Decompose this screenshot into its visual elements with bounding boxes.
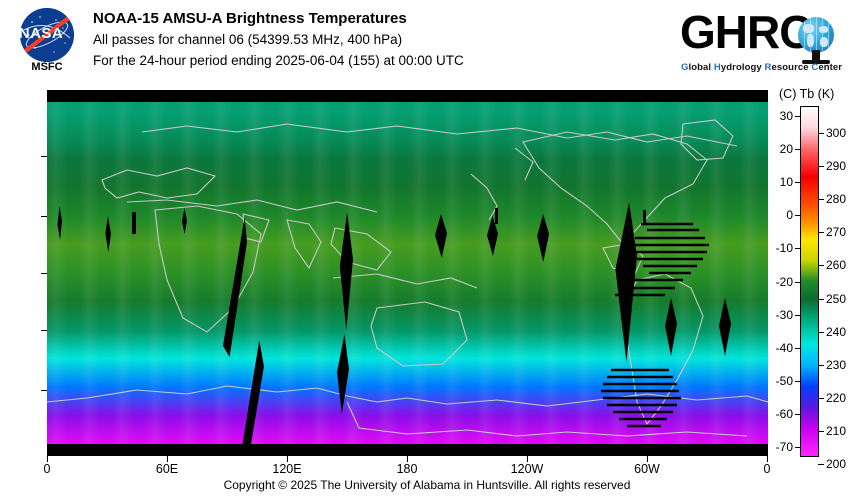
brightness-temperature-map [47,102,768,444]
colorbar-tick-kelvin [818,166,824,167]
colorbar-tick-kelvin [818,398,824,399]
x-axis-label: 120E [262,462,312,476]
colorbar-tick-celsius [795,215,801,216]
y-tick [41,156,47,157]
colorbar-label-kelvin: 300 [826,126,846,140]
ghrc-wordmark: GHRC [680,6,811,58]
ghrc-tagline: Global Hydrology Resource Center [681,62,842,73]
colorbar-tick-kelvin [818,265,824,266]
subtitle-channel: All passes for channel 06 (54399.53 MHz,… [93,29,464,50]
colorbar-label-celsius: 30 [780,109,793,123]
map-plot: 60N 30N EQ 30S 60S 0 60E 120E 180 120W 6… [47,90,768,456]
copyright-notice: Copyright © 2025 The University of Alaba… [0,478,854,492]
colorbar-header: (C) Tb (K) [779,87,834,101]
colorbar-tick-kelvin [818,365,824,366]
colorbar-tick-celsius [795,414,801,415]
nasa-logo: NASA MSFC [14,6,80,72]
x-axis-label: 0 [22,462,72,476]
globe-icon [798,17,834,53]
colorbar-tick-celsius [795,315,801,316]
colorbar-label-celsius: -60 [776,407,793,421]
colorbar-label-celsius: 20 [780,142,793,156]
colorbar-tick-celsius [795,248,801,249]
colorbar-tick-celsius [795,282,801,283]
colorbar-label-celsius: 0 [786,208,793,222]
y-tick [41,330,47,331]
colorbar-tick-celsius [795,149,801,150]
x-axis-label: 60E [142,462,192,476]
nasa-wordmark: NASA [14,6,68,60]
colorbar-tick-kelvin [818,133,824,134]
y-tick [41,390,47,391]
colorbar-label-kelvin: 210 [826,424,846,438]
nasa-center-label: MSFC [14,61,80,73]
colorbar-tick-kelvin [818,464,824,465]
colorbar-tick-kelvin [818,199,824,200]
colorbar-label-kelvin: 270 [826,225,846,239]
x-axis-label: 60W [622,462,672,476]
colorbar-tick-kelvin [818,232,824,233]
colorbar-tick-kelvin [818,431,824,432]
colorbar-gradient [801,107,818,456]
title-block: NOAA-15 AMSU-A Brightness Temperatures A… [93,9,464,71]
colorbar-label-celsius: -40 [776,341,793,355]
colorbar-tick-celsius [795,381,801,382]
ghrc-logo: GHRC Global Hydrology Resource Center [676,6,844,76]
colorbar-label-kelvin: 220 [826,391,846,405]
colorbar-label-kelvin: 260 [826,258,846,272]
colorbar-label-kelvin: 290 [826,159,846,173]
x-axis-label: 120W [502,462,552,476]
colorbar-tick-celsius [795,348,801,349]
colorbar-label-kelvin: 280 [826,192,846,206]
page-title: NOAA-15 AMSU-A Brightness Temperatures [93,9,464,29]
y-tick [41,216,47,217]
colorbar-tick-celsius [795,116,801,117]
colorbar-label-kelvin: 230 [826,358,846,372]
colorbar-label-kelvin: 200 [826,457,846,471]
subtitle-period: For the 24-hour period ending 2025-06-04… [93,50,464,71]
colorbar-tick-celsius [795,447,801,448]
colorbar: 3020100-10-20-30-40-50-60-70300290280270… [800,106,819,457]
x-axis-label: 180 [382,462,432,476]
y-tick [41,273,47,274]
colorbar-tick-celsius [795,182,801,183]
colorbar-label-celsius: 10 [780,175,793,189]
colorbar-label-celsius: -30 [776,308,793,322]
colorbar-label-celsius: -70 [776,440,793,454]
colorbar-label-celsius: -50 [776,374,793,388]
colorbar-label-celsius: -10 [776,241,793,255]
x-axis-label: 0 [742,462,792,476]
colorbar-tick-kelvin [818,332,824,333]
colorbar-tick-kelvin [818,299,824,300]
scanline-gaps [47,102,768,444]
colorbar-label-celsius: -20 [776,275,793,289]
colorbar-label-kelvin: 250 [826,292,846,306]
colorbar-label-kelvin: 240 [826,325,846,339]
